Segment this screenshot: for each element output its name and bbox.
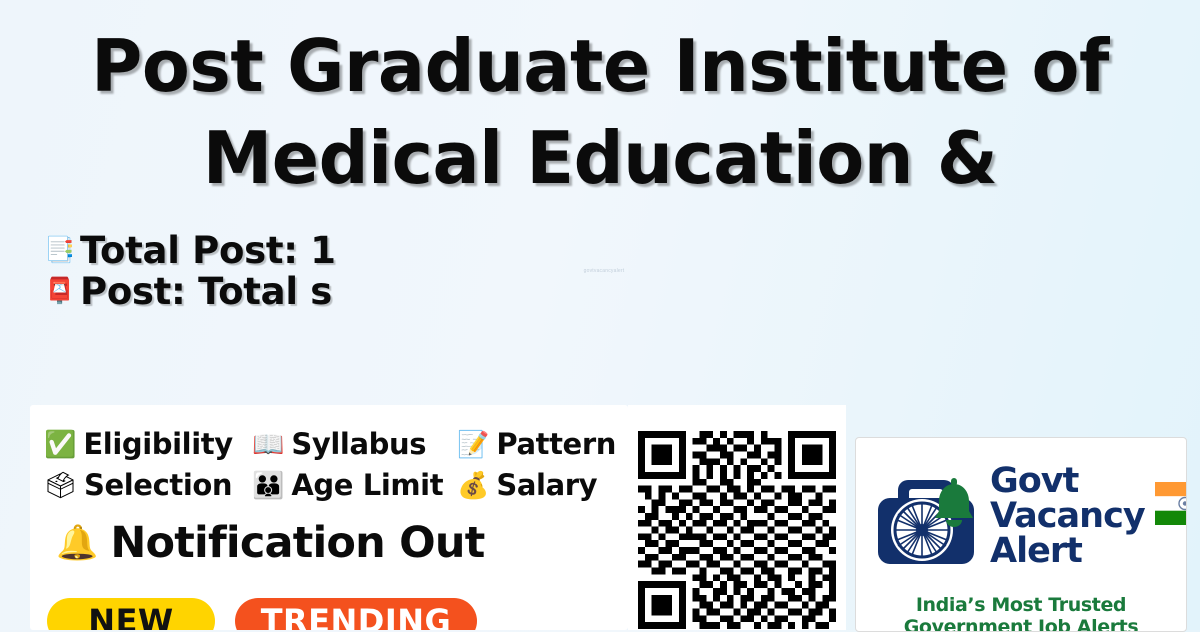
feature-grid: ✅ Eligibility 📖 Syllabus 📝 Pattern 🗳 Sel… (44, 423, 628, 505)
check-mark-emoji: ✅ (44, 431, 76, 457)
notification-out-label: Notification Out (110, 518, 484, 568)
qr-code-image (638, 431, 836, 629)
ballot-box-emoji: 🗳 (44, 472, 77, 498)
feature-label: Syllabus (291, 427, 426, 461)
total-post-text: Total Post: 1 (80, 229, 336, 272)
brand-line-2: Vacancy (990, 499, 1145, 534)
new-badge[interactable]: NEW (47, 598, 215, 630)
money-bag-emoji: 💰 (457, 472, 489, 498)
family-emoji: 👪 (252, 472, 284, 498)
feature-label: Eligibility (83, 427, 232, 461)
qr-panel (628, 405, 846, 630)
feature-selection: 🗳 Selection (44, 468, 252, 502)
header-section: Post Graduate Institute of Medical Educa… (0, 0, 1200, 400)
qr-code[interactable] (638, 431, 836, 629)
feature-eligibility: ✅ Eligibility (44, 427, 252, 461)
job-stamp-emoji: 📮 (44, 279, 70, 304)
features-panel: ✅ Eligibility 📖 Syllabus 📝 Pattern 🗳 Sel… (30, 405, 628, 630)
logo-row: Govt Vacancy Alert (870, 460, 1187, 572)
feature-age-limit: 👪 Age Limit (252, 468, 457, 502)
meta-line: 📑 Total Post: 1 (44, 230, 336, 271)
feature-row: 🗳 Selection 👪 Age Limit 💰 Salary (44, 464, 628, 505)
brand-logo-card: Govt Vacancy Alert India’s Most Trusted … (855, 437, 1187, 632)
flag-svg (1155, 482, 1187, 525)
watermark-text: govtvacancyalert (573, 268, 635, 274)
post-total-text: Post: Total s (80, 270, 332, 313)
trending-badge[interactable]: TRENDING (235, 598, 477, 630)
document-search-emoji: 📑 (44, 238, 70, 263)
brand-wordmark: Govt Vacancy Alert (990, 464, 1145, 569)
feature-salary: 💰 Salary (457, 468, 597, 502)
feature-pattern: 📝 Pattern (457, 427, 616, 461)
brand-line-1: Govt (990, 464, 1145, 499)
notification-out-row: 🔔 Notification Out (56, 518, 484, 568)
exam-paper-emoji: 📝 (457, 431, 489, 457)
brand-line-3: Alert (990, 534, 1145, 569)
page-title: Post Graduate Institute of Medical Educa… (76, 20, 1124, 204)
bell-emoji: 🔔 (56, 526, 98, 560)
brand-tagline: India’s Most Trusted Government Job Aler… (856, 594, 1186, 632)
notebook-pencil-emoji: 📖 (252, 431, 284, 457)
india-flag-icon (1155, 482, 1187, 525)
feature-label: Selection (84, 468, 232, 502)
briefcase-icon (870, 460, 982, 572)
badge-group: NEW TRENDING (47, 598, 477, 630)
feature-label: Age Limit (291, 468, 443, 502)
preview-card: Post Graduate Institute of Medical Educa… (0, 0, 1200, 630)
feature-label: Salary (496, 468, 597, 502)
feature-row: ✅ Eligibility 📖 Syllabus 📝 Pattern (44, 423, 628, 464)
briefcase-chakra-bell-icon (870, 460, 982, 572)
feature-label: Pattern (496, 427, 616, 461)
feature-syllabus: 📖 Syllabus (252, 427, 457, 461)
meta-line: 📮 Post: Total s (44, 271, 336, 312)
post-meta: 📑 Total Post: 1 📮 Post: Total s (44, 230, 336, 312)
